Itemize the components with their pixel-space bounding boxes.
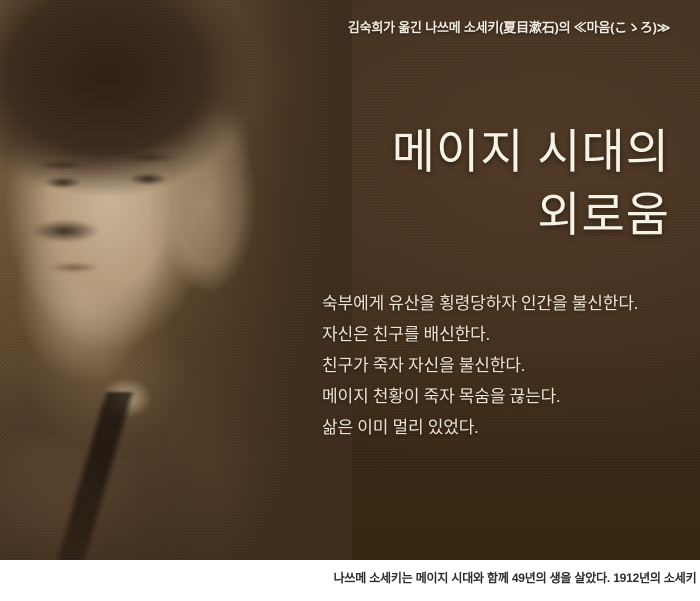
photo-caption: 나쓰메 소세키는 메이지 시대와 함께 49년의 생을 살았다. 1912년의 … <box>0 569 700 586</box>
attribution-line: 김숙희가 옮긴 나쓰메 소세키(夏目漱石)의 ≪마음(こゝろ)≫ <box>0 17 700 36</box>
poster: 김숙희가 옮긴 나쓰메 소세키(夏目漱石)의 ≪마음(こゝろ)≫ 메이지 시대의… <box>0 0 700 601</box>
poster-title: 메이지 시대의 외로움 <box>300 130 672 240</box>
summary-line: 메이지 천황이 죽자 목숨을 끊는다. <box>322 381 682 412</box>
summary-line: 삶은 이미 멀리 있었다. <box>322 412 682 443</box>
summary-text: 숙부에게 유산을 횡령당하자 인간을 불신한다. 자신은 친구를 배신한다. 친… <box>322 288 682 443</box>
title-line-2: 외로움 <box>300 193 672 240</box>
summary-line: 자신은 친구를 배신한다. <box>322 319 682 350</box>
footer-bar: 나쓰메 소세키는 메이지 시대와 함께 49년의 생을 살았다. 1912년의 … <box>0 560 700 601</box>
summary-line: 친구가 죽자 자신을 불신한다. <box>322 350 682 381</box>
film-grain-overlay <box>0 0 700 560</box>
poster-stage: 김숙희가 옮긴 나쓰메 소세키(夏目漱石)의 ≪마음(こゝろ)≫ 메이지 시대의… <box>0 0 700 560</box>
summary-line: 숙부에게 유산을 횡령당하자 인간을 불신한다. <box>322 288 682 319</box>
title-line-1: 메이지 시대의 <box>300 130 672 177</box>
